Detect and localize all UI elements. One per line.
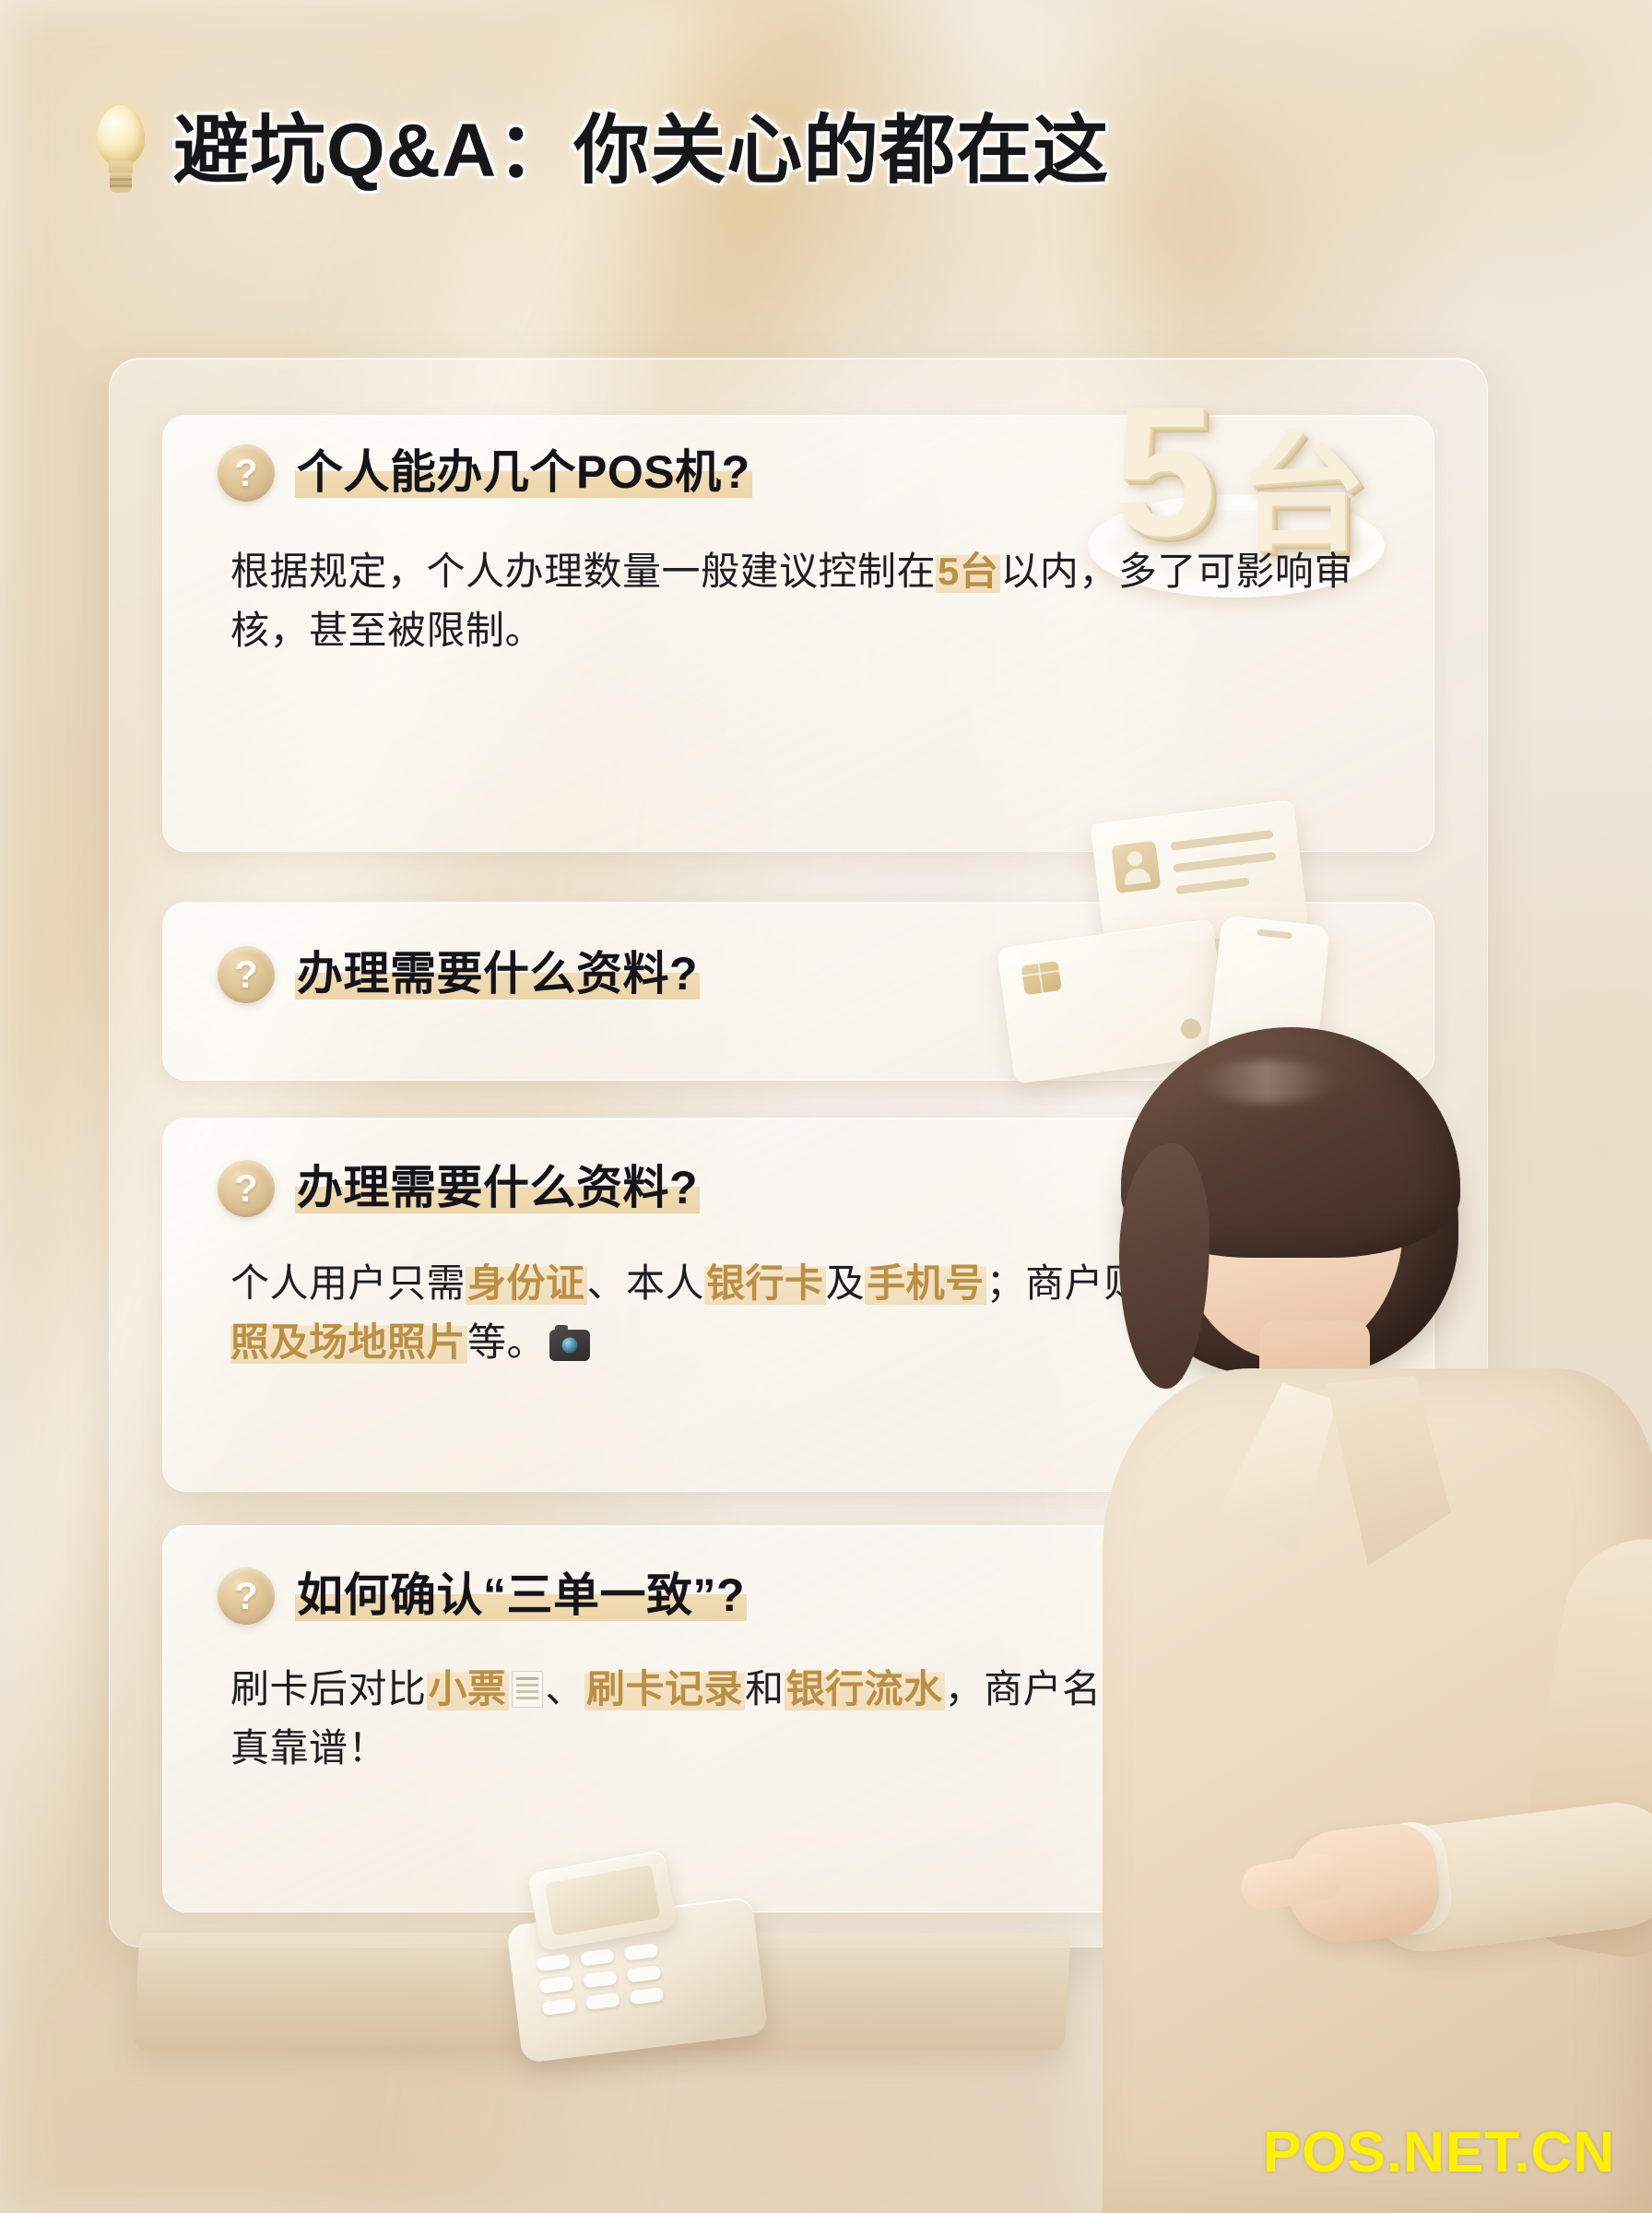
answer-highlight: 身份证 [466,1261,587,1305]
answer-run: 个人用户只需 [230,1261,466,1305]
question-badge-glyph: ? [218,1160,275,1217]
question-text-1: 个人能办几个POS机? [295,446,752,500]
answer-highlight: 银行流水 [785,1667,945,1710]
id-line-2 [1173,852,1276,873]
answer-run: 和 [745,1667,785,1710]
question-badge-icon: ? [218,946,275,1003]
phone-speaker [1257,929,1293,940]
question-badge-glyph: ? [218,444,275,502]
id-line-3 [1175,877,1250,894]
answer-highlight: 5台 [936,550,1000,593]
question-badge-icon: ? [218,1160,275,1217]
question-row-2: ? 办理需要什么资料? [218,946,700,1003]
answer-highlight: 刷卡记录 [584,1667,745,1710]
decor-unit-tai: 台 [1237,430,1366,559]
question-row-3: ? 办理需要什么资料? [218,1160,700,1217]
lightbulb-base [110,172,132,193]
answer-run: 根据规定，个人办理数量一般建议控制在 [230,550,936,593]
question-row-1: ? 个人能办几个POS机? [218,444,752,502]
card-chip [1021,961,1062,995]
question-text-2: 办理需要什么资料? [295,948,700,1001]
site-watermark: POS.NET.CN [1263,2124,1615,2182]
lightbulb-glass [97,105,145,166]
question-badge-glyph: ? [218,1568,275,1625]
answer-text-1: 根据规定，个人办理数量一般建议控制在5台以内，多了可影响审核，甚至被限制。 [230,542,1374,660]
question-row-4: ? 如何确认“三单一致”? [218,1568,747,1625]
question-badge-glyph: ? [218,946,275,1003]
id-photo [1111,841,1161,893]
answer-highlight: 银行卡 [704,1261,826,1305]
question-badge-icon: ? [218,1568,275,1625]
decor-number-five: 5 [1114,380,1216,564]
answer-run: 及 [826,1261,866,1305]
pos-screen-inner [544,1864,660,1936]
receipt-icon [512,1671,543,1708]
answer-run: 等。 [467,1320,546,1364]
question-badge-icon: ? [218,444,275,502]
camera-icon [549,1330,590,1361]
character-illustration [922,1033,1652,2213]
question-text-3: 办理需要什么资料? [295,1162,700,1215]
answer-run: 刷卡后对比 [230,1667,427,1710]
character-hair-highlight [1198,1060,1337,1103]
question-text-4: 如何确认“三单一致”? [295,1569,747,1623]
answer-run: 、本人 [587,1261,705,1305]
answer-highlight: 小票 [427,1667,509,1710]
answer-run: 、 [546,1667,585,1710]
page-title: 避坑Q&A：你关心的都在这 [173,113,1109,189]
lightbulb-icon [88,103,153,199]
id-line-1 [1170,830,1273,851]
page-title-row: 避坑Q&A：你关心的都在这 [88,100,1149,203]
